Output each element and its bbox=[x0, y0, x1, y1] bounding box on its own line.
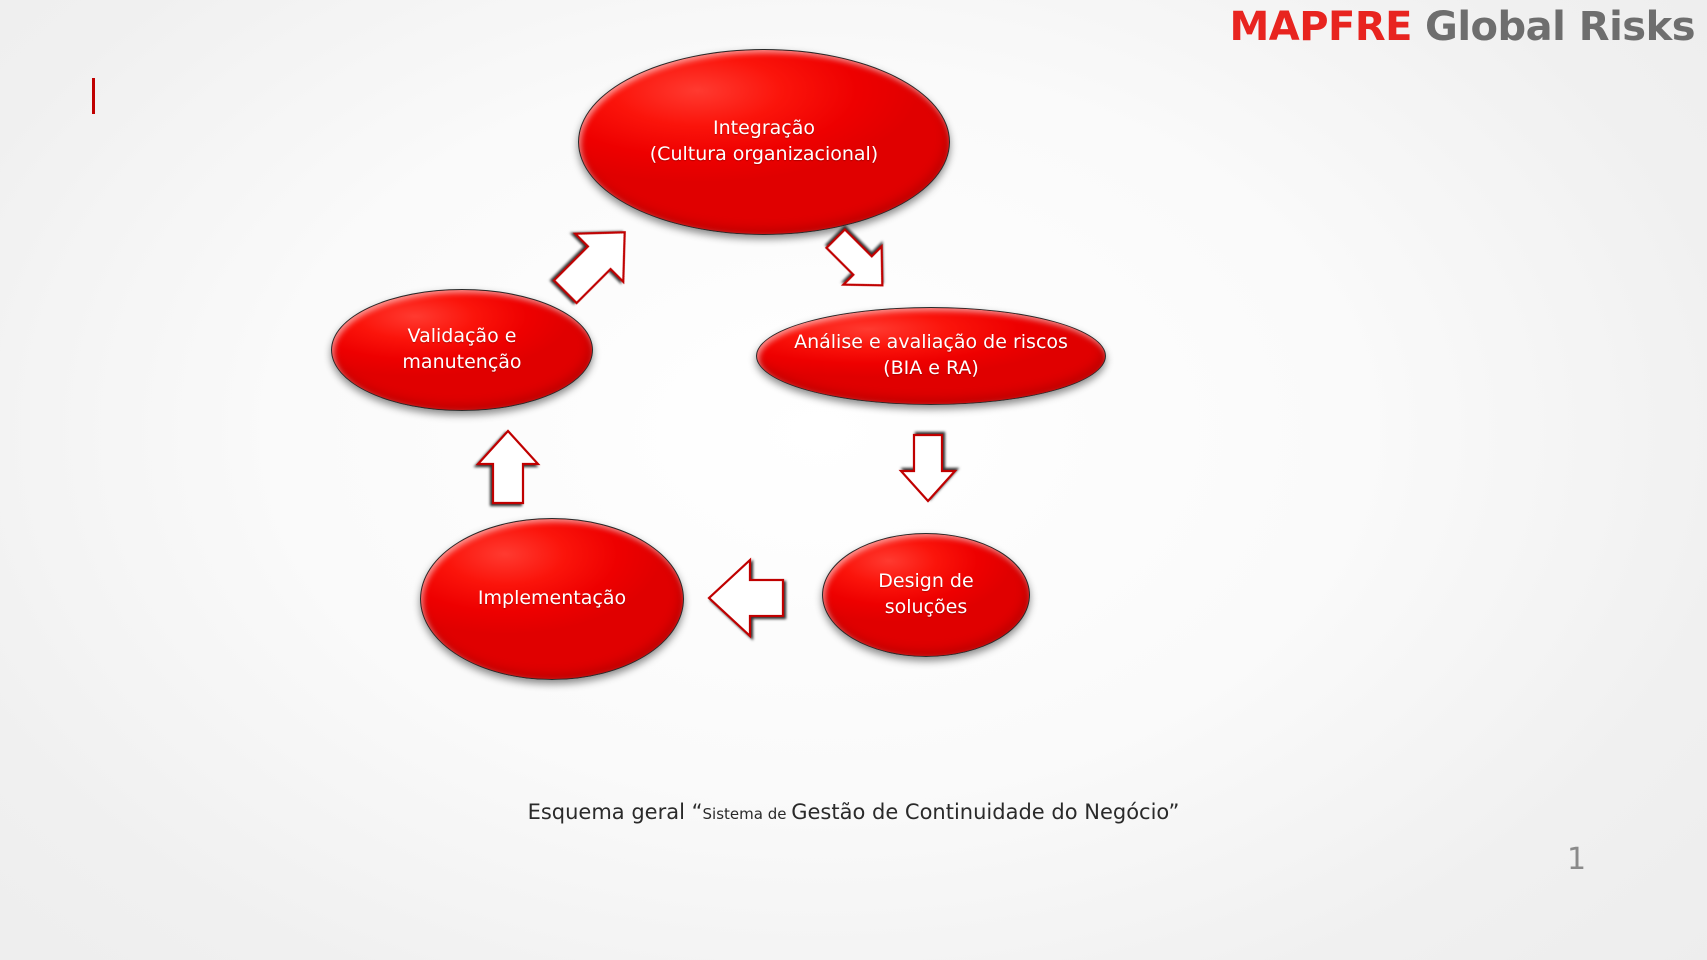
node-integracao[interactable]: Integração (Cultura organizacional) bbox=[578, 49, 950, 235]
caption-quote-open: “ bbox=[692, 800, 703, 824]
slide-canvas: MAPFRE Global Risks Integração (Cultura … bbox=[0, 0, 1707, 960]
arrow-left-icon bbox=[692, 557, 800, 639]
node-validacao-line2: manutenção bbox=[402, 350, 521, 376]
node-implementacao-line1: Implementação bbox=[478, 586, 626, 612]
node-analise-avaliacao-riscos[interactable]: Análise e avaliação de riscos (BIA e RA) bbox=[756, 307, 1106, 405]
arrow-up-icon bbox=[466, 428, 550, 506]
node-analise-label: Análise e avaliação de riscos (BIA e RA) bbox=[776, 330, 1086, 381]
caption-small-text: Sistema de bbox=[703, 805, 792, 823]
caption-main-text: Gestão de Continuidade do Negócio bbox=[791, 800, 1168, 824]
node-design-label: Design de soluções bbox=[860, 569, 991, 620]
node-integracao-label: Integração (Cultura organizacional) bbox=[632, 116, 896, 167]
arrow-down-right-icon bbox=[820, 226, 898, 298]
diagram-caption: Esquema geral “Sistema de Gestão de Cont… bbox=[0, 800, 1707, 824]
node-design-line1: Design de bbox=[878, 569, 973, 595]
logo-text-global-risks: Global Risks bbox=[1425, 4, 1695, 50]
node-validacao-line1: Validação e bbox=[402, 324, 521, 350]
node-analise-line2: (BIA e RA) bbox=[794, 356, 1068, 382]
node-implementacao-label: Implementação bbox=[460, 586, 644, 612]
node-integracao-line1: Integração bbox=[650, 116, 878, 142]
node-design-solucoes[interactable]: Design de soluções bbox=[822, 533, 1030, 657]
mapfre-global-risks-logo: MAPFRE Global Risks bbox=[1229, 4, 1695, 50]
caption-quote-close: ” bbox=[1169, 800, 1180, 824]
page-number: 1 bbox=[1567, 845, 1586, 875]
arrow-down-icon bbox=[889, 432, 967, 504]
logo-text-mapfre: MAPFRE bbox=[1229, 4, 1412, 50]
node-analise-line1: Análise e avaliação de riscos bbox=[794, 330, 1068, 356]
node-validacao-label: Validação e manutenção bbox=[384, 324, 539, 375]
arrow-up-right-icon bbox=[545, 216, 645, 308]
red-accent-bar bbox=[92, 78, 95, 114]
node-implementacao[interactable]: Implementação bbox=[420, 518, 684, 680]
caption-prefix: Esquema geral bbox=[528, 800, 692, 824]
node-integracao-line2: (Cultura organizacional) bbox=[650, 142, 878, 168]
node-design-line2: soluções bbox=[878, 595, 973, 621]
